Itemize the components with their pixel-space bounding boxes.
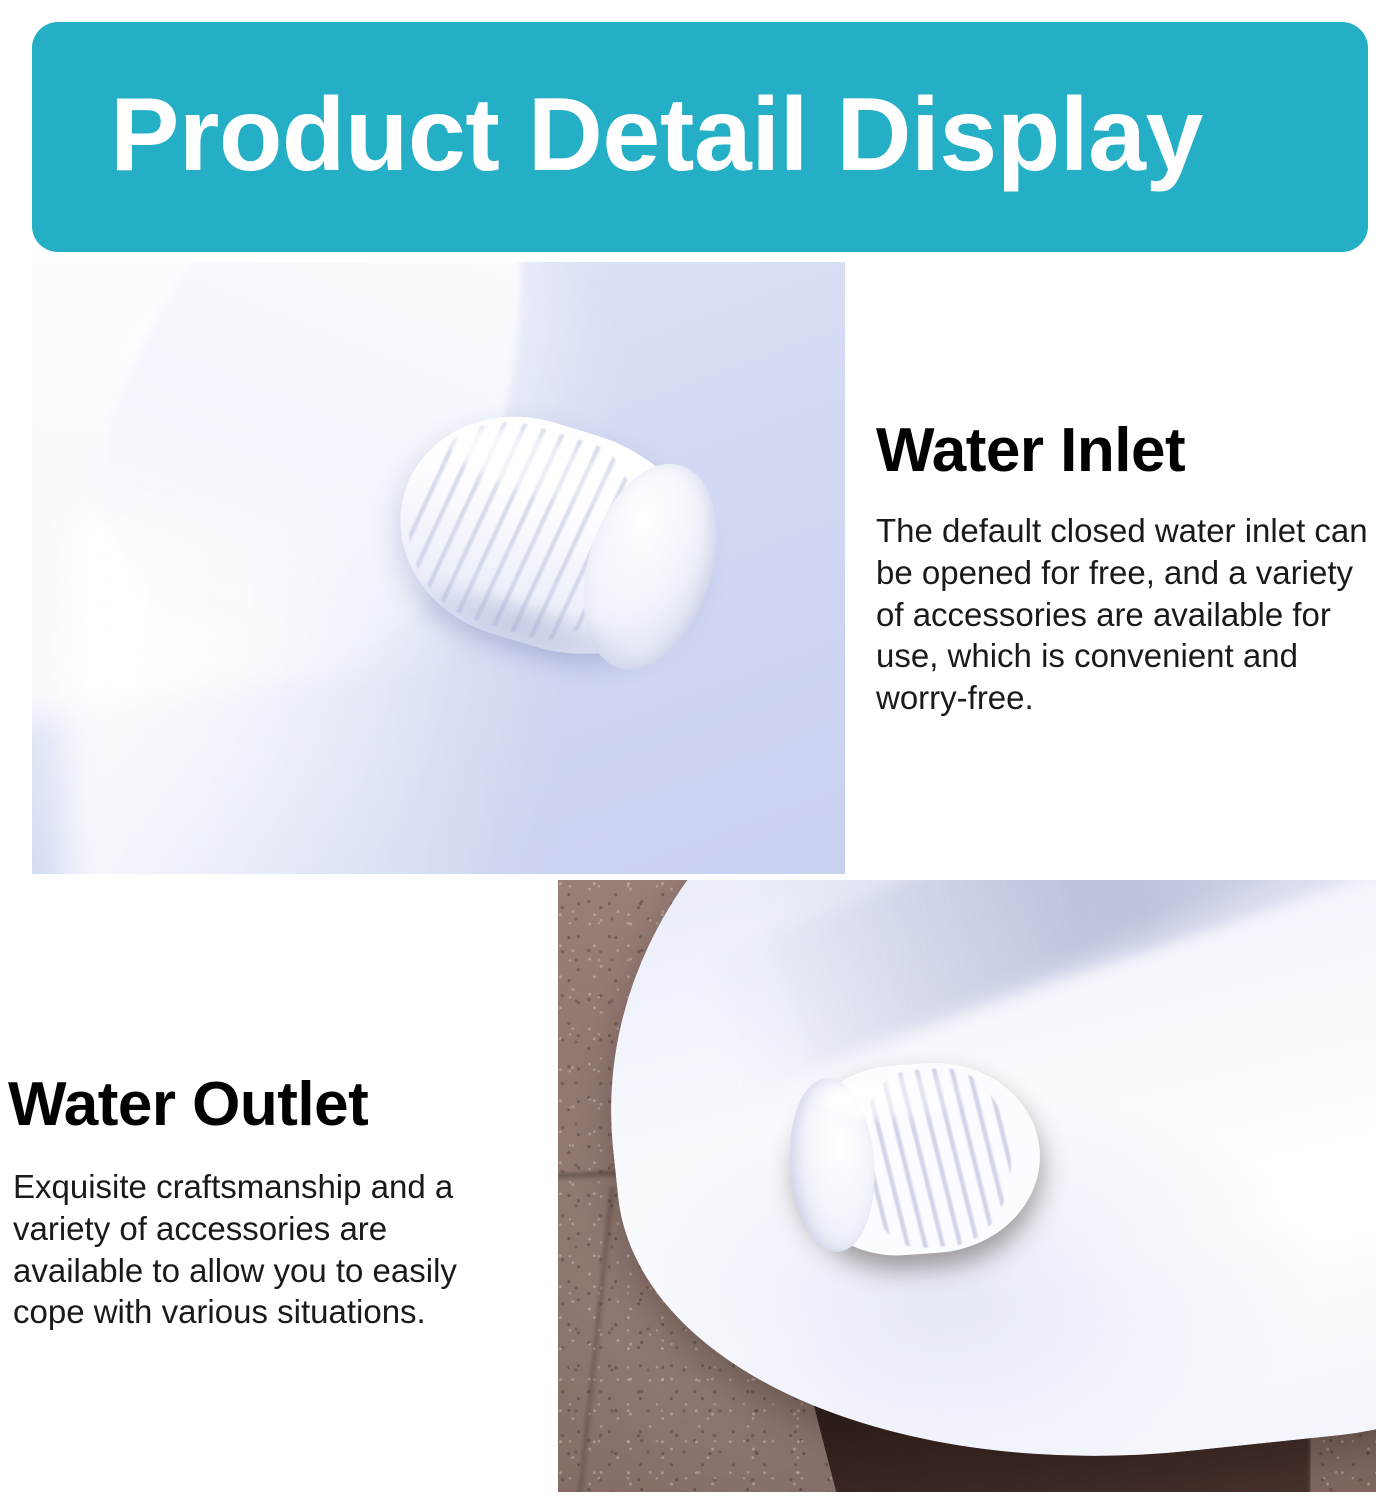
header-banner: Product Detail Display (32, 22, 1368, 252)
page-title: Product Detail Display (110, 83, 1203, 187)
water-outlet-description: Exquisite craftsmanship and a variety of… (13, 1166, 468, 1334)
water-inlet-description: The default closed water inlet can be op… (876, 510, 1368, 720)
water-inlet-heading: Water Inlet (876, 418, 1368, 484)
water-outlet-text-block: Water Outlet Exquisite craftsmanship and… (8, 1072, 508, 1333)
water-outlet-spout (789, 1055, 1047, 1261)
water-inlet-photo (32, 262, 845, 874)
water-inlet-text-block: Water Inlet The default closed water inl… (876, 418, 1368, 719)
water-outlet-photo (558, 880, 1376, 1492)
water-outlet-heading: Water Outlet (8, 1072, 508, 1138)
